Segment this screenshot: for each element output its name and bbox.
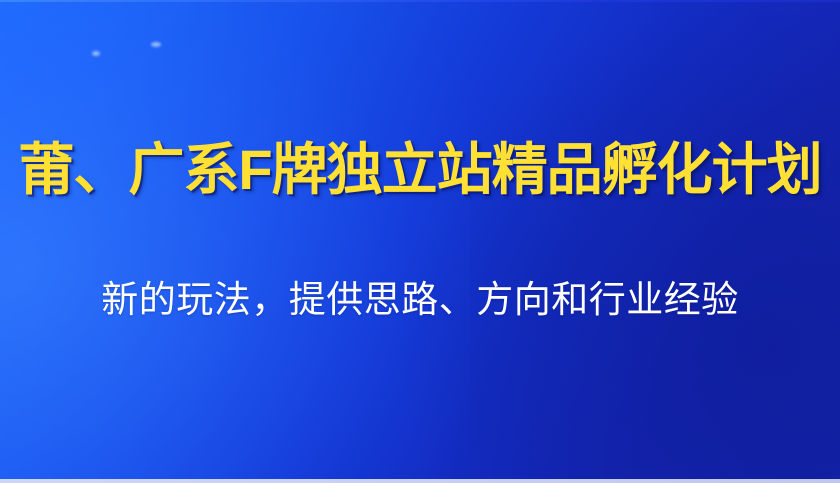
top-edge-line — [0, 0, 840, 2]
banner-headline: 莆、广系F牌独立站精品孵化计划 — [0, 134, 840, 206]
promo-banner: 莆、广系F牌独立站精品孵化计划 新的玩法，提供思路、方向和行业经验 — [0, 0, 840, 483]
banner-content: 莆、广系F牌独立站精品孵化计划 新的玩法，提供思路、方向和行业经验 — [0, 0, 840, 483]
banner-subheadline: 新的玩法，提供思路、方向和行业经验 — [0, 272, 840, 328]
bottom-edge-line — [0, 479, 840, 483]
